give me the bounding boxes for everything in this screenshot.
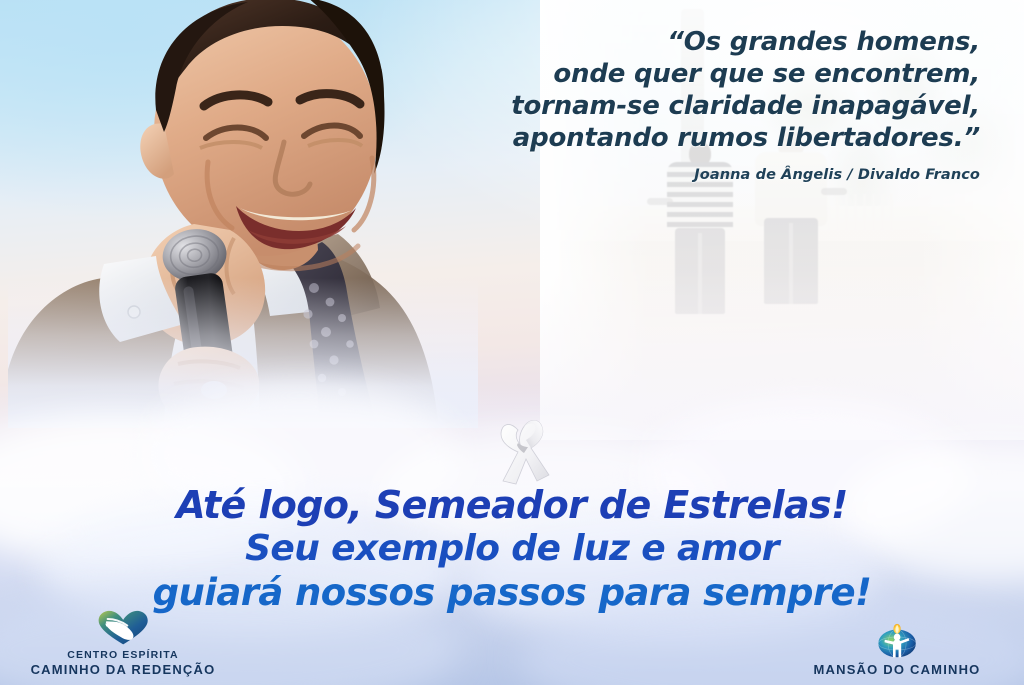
logo-left-line-2: CAMINHO DA REDENÇÃO	[18, 662, 228, 677]
white-ribbon-icon	[487, 409, 559, 487]
quote-line-2: onde quer que se encontrem,	[280, 58, 980, 90]
headline-block: Até logo, Semeador de Estrelas! Seu exem…	[0, 486, 1024, 611]
headline-line-1: Até logo, Semeador de Estrelas!	[0, 486, 1024, 524]
heart-hands-icon	[18, 610, 228, 646]
quote-attribution: Joanna de Ângelis / Divaldo Franco	[280, 167, 980, 183]
headline-line-2: Seu exemplo de luz e amor	[0, 531, 1024, 567]
logo-centro-espirita-caminho-da-redencao: CENTRO ESPÍRITA CAMINHO DA REDENÇÃO	[18, 610, 228, 677]
quote-line-3: tornam-se claridade inapagável,	[280, 90, 980, 122]
logo-left-line-1: CENTRO ESPÍRITA	[18, 649, 228, 661]
quote-block: “Os grandes homens, onde quer que se enc…	[280, 26, 980, 183]
logo-right-line-1: MANSÃO DO CAMINHO	[782, 662, 1012, 677]
logo-mansao-do-caminho: MANSÃO DO CAMINHO	[782, 623, 1012, 677]
headline-line-3: guiará nossos passos para sempre!	[0, 574, 1024, 611]
poster-canvas: “Os grandes homens, onde quer que se enc…	[0, 0, 1024, 685]
quote-line-4: apontando rumos libertadores.”	[280, 122, 980, 154]
quote-line-1: “Os grandes homens,	[280, 26, 980, 58]
globe-figure-torch-icon	[782, 623, 1012, 659]
